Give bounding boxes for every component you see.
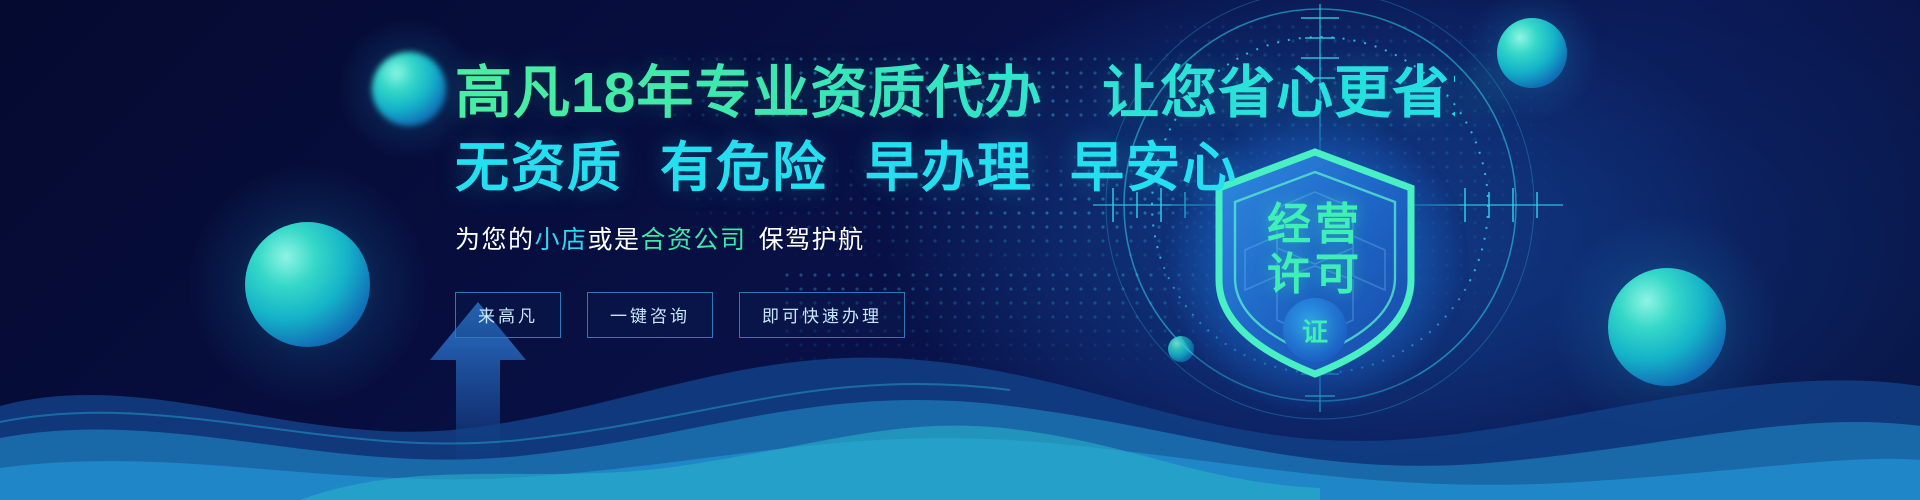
tag-item-fast-process[interactable]: 即可快速办理 (739, 292, 905, 338)
subtitle-highlight-company: 合资公司 (641, 226, 747, 254)
promotional-banner: 经营 许可 证 高凡18年专业资质代办 (0, 0, 1920, 500)
subtitle-highlight-shop: 小店 (535, 226, 588, 254)
headline-primary: 高凡18年专业资质代办 让您省心更省力 (455, 62, 1455, 126)
sphere-core (372, 52, 446, 126)
subtitle-tail: 保驾护航 (759, 226, 865, 254)
headline-secondary-item-1: 有危险 (660, 138, 828, 198)
headline-primary-part1: 高凡18年专业资质代办 (455, 61, 1042, 125)
tag-item-consult[interactable]: 一键咨询 (587, 292, 713, 338)
decorative-sphere-top-left (372, 52, 446, 126)
banner-text-block: 高凡18年专业资质代办 让您省心更省力 无资质 有危险 早办理 早安心 为您的小… (455, 62, 1455, 338)
wave-decoration (0, 310, 1920, 500)
tag-item-come[interactable]: 来高凡 (455, 292, 561, 338)
subtitle-lead: 为您的 (455, 226, 535, 254)
headline-secondary-item-0: 无资质 (455, 138, 623, 198)
subtitle-line: 为您的小店或是合资公司保驾护航 (455, 220, 1455, 256)
subtitle-middle: 或是 (588, 226, 641, 254)
headline-secondary-item-3: 早安心 (1070, 138, 1238, 198)
headline-primary-part2: 让您省心更省力 (1102, 61, 1508, 125)
headline-secondary: 无资质 有危险 早办理 早安心 (455, 139, 1455, 198)
headline-secondary-item-2: 早办理 (865, 138, 1033, 198)
tag-row: 来高凡 一键咨询 即可快速办理 (455, 292, 1455, 338)
